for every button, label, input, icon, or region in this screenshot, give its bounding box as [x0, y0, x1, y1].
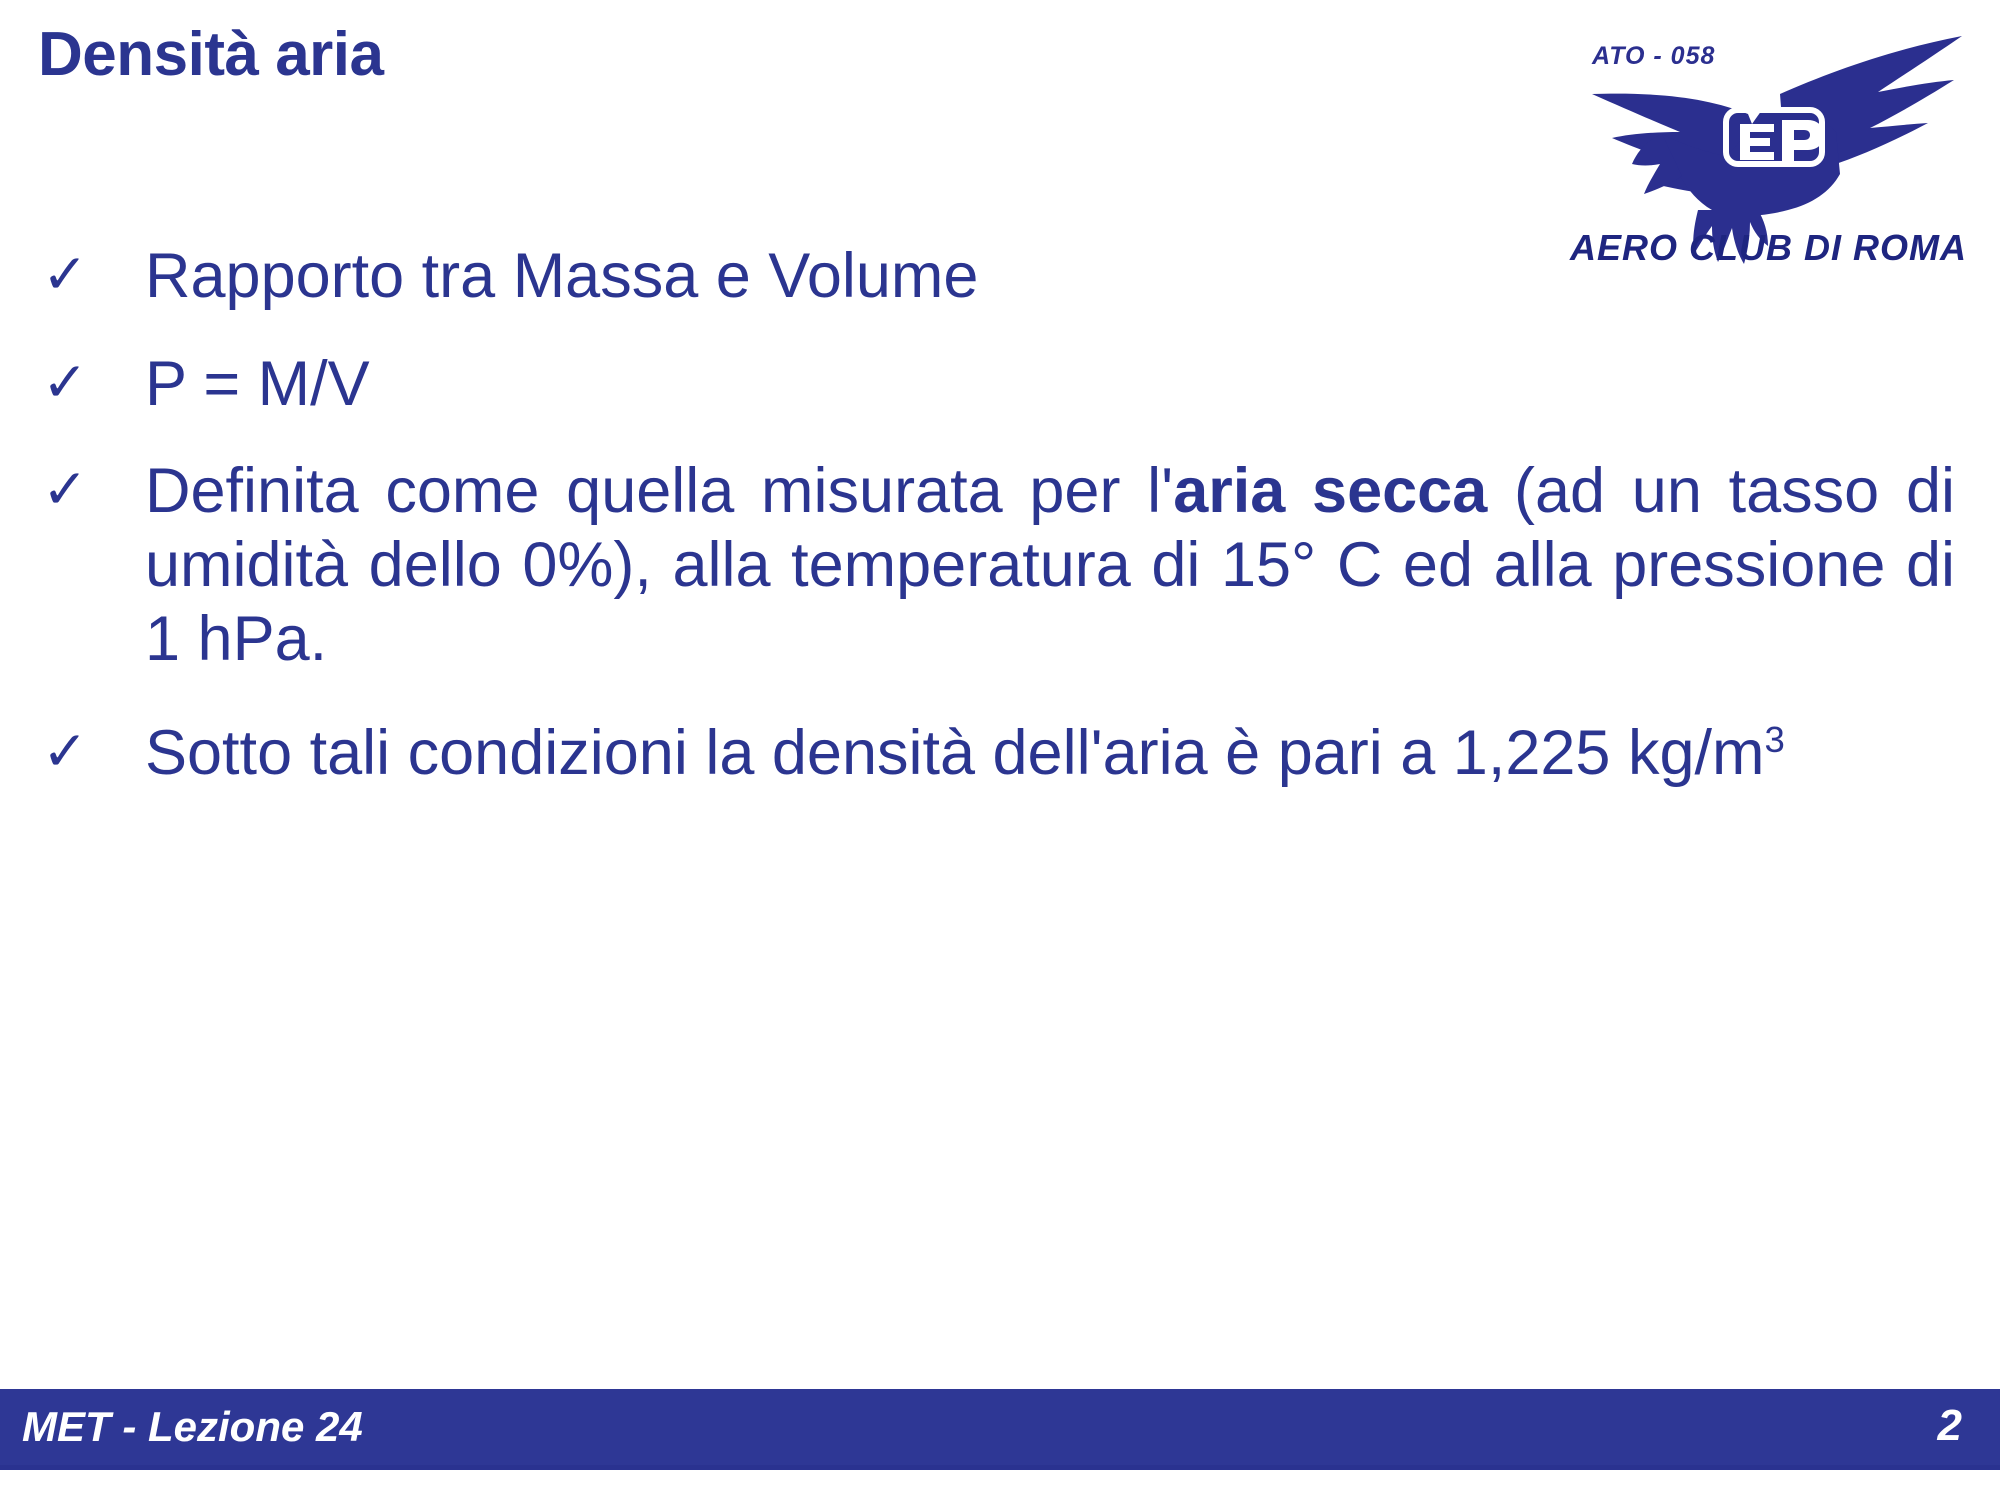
slide: Densità aria ATO - 058 — [0, 0, 2000, 1500]
footer-bar: MET - Lezione 24 2 — [0, 1389, 2000, 1470]
list-item-superscript: 3 — [1764, 719, 1784, 760]
footer-lesson-label: MET - Lezione 24 — [22, 1403, 363, 1451]
bullet-list: ✓ Rapporto tra Massa e Volume ✓ P = M/V … — [0, 240, 2000, 838]
list-item-text: Rapporto tra Massa e Volume — [145, 241, 978, 311]
list-item-text-lead: Definita come quella misurata per l' — [145, 456, 1173, 526]
page-number: 2 — [1938, 1401, 1962, 1451]
page-title: Densità aria — [38, 22, 384, 87]
checkmark-icon: ✓ — [42, 719, 88, 783]
checkmark-icon: ✓ — [42, 457, 88, 521]
list-item: ✓ Rapporto tra Massa e Volume — [0, 240, 2000, 314]
list-item: ✓ P = M/V — [0, 348, 2000, 422]
checkmark-icon: ✓ — [42, 242, 88, 306]
logo-ato-code: ATO - 058 — [1592, 42, 1715, 71]
list-item: ✓Definita come quella misurata per l'ari… — [0, 455, 2000, 676]
list-item-text: P = M/V — [145, 349, 370, 419]
list-item: ✓Sotto tali condizioni la densità dell'a… — [0, 717, 2000, 791]
list-item-text: Sotto tali condizioni la densità dell'ar… — [145, 718, 1764, 788]
checkmark-icon: ✓ — [42, 350, 88, 414]
list-item-text-emphasis: aria secca — [1173, 456, 1487, 526]
